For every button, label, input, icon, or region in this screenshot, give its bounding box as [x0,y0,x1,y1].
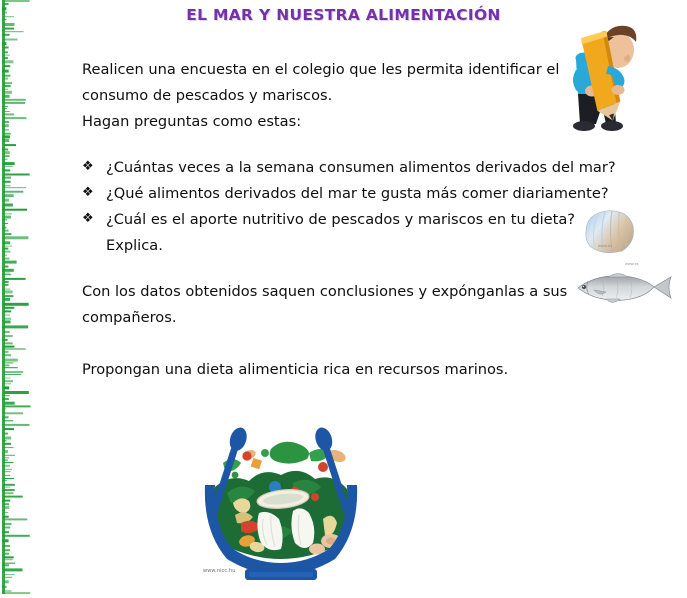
spacer [82,331,642,357]
shell-watermark: www.es [598,244,612,248]
diamond-bullet-icon: ❖ [82,206,94,232]
seashell-icon [578,206,640,258]
fish-watermark: www.ex [625,262,639,266]
student-with-pencil-icon [556,20,640,138]
salad-watermark: www.nicc.hu [203,568,235,574]
spiral-binding-decoration [0,0,40,594]
question-text: ¿Cuál es el aporte nutritivo de pescados… [106,211,575,254]
student-with-pencil-illustration [556,20,640,138]
list-item: ❖ ¿Qué alimentos derivados del mar te gu… [82,181,618,207]
intro-line-3: Hagan preguntas como estas: [82,109,577,135]
fish-illustration [572,268,676,308]
intro-line-1: Realicen una encuesta en el colegio que … [82,57,577,83]
question-text: ¿Cuántas veces a la semana consumen alim… [106,159,616,176]
question-text: ¿Qué alimentos derivados del mar te gust… [106,185,609,202]
worksheet-page: EL MAR Y NUESTRA ALIMENTACIÓN Realicen u… [0,0,687,594]
spacer [82,259,642,279]
list-item: ❖ ¿Cuántas veces a la semana consumen al… [82,155,618,181]
closing-paragraph-2: Propongan una dieta alimenticia rica en … [82,357,602,383]
salad-bowl-illustration [197,423,365,589]
closing-paragraph-1: Con los datos obtenidos saquen conclusio… [82,279,602,331]
question-list: ❖ ¿Cuántas veces a la semana consumen al… [82,155,642,259]
seashell-illustration [578,206,640,258]
diamond-bullet-icon: ❖ [82,180,94,206]
diamond-bullet-icon: ❖ [82,154,94,180]
fish-icon [572,268,676,308]
list-item: ❖ ¿Cuál es el aporte nutritivo de pescad… [82,207,618,259]
spiral-binding-icon [0,0,40,594]
intro-line-2: consumo de pescados y mariscos. [82,83,577,109]
salad-bowl-icon [197,423,365,589]
